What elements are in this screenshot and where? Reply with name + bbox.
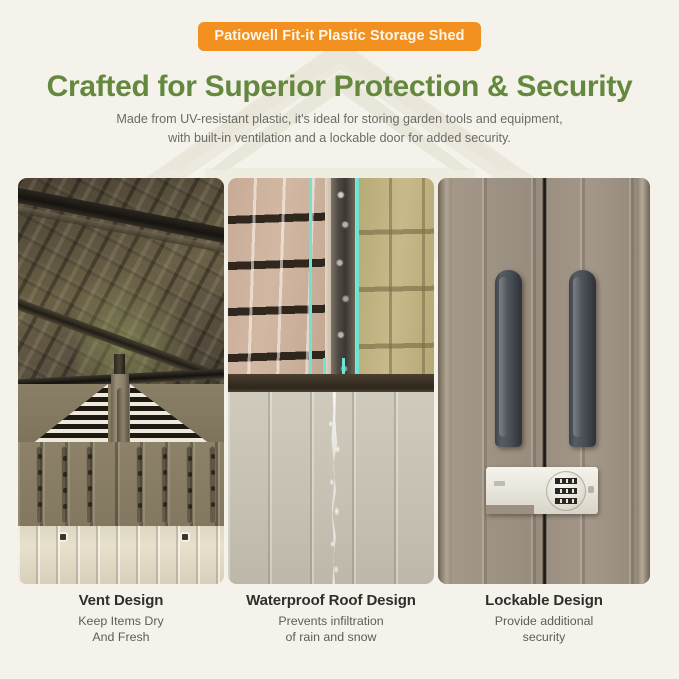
latch-notch [486, 505, 494, 514]
ribbed-wall-panels [18, 442, 224, 528]
shed-wall-below [228, 392, 434, 584]
waterproof-roof-scene [228, 178, 434, 584]
wall-slot-column [61, 446, 68, 524]
door-edge-right [637, 178, 650, 584]
door-handle-right [569, 270, 596, 447]
caption-line-2: security [438, 629, 650, 645]
base-screw [60, 534, 66, 540]
roof-panel-right-texture [359, 178, 434, 390]
roof-interior [18, 178, 224, 406]
feature-panels [18, 178, 662, 584]
subtitle-line-1: Made from UV-resistant plastic, it's ide… [0, 110, 679, 129]
caption-subtitle: Provide additional security [438, 613, 650, 645]
wall-slot-column [209, 446, 216, 524]
wall-slot-column [161, 446, 168, 524]
wall-slot-column [86, 446, 93, 524]
caption-line-2: of rain and snow [228, 629, 434, 645]
louver-slats-left [32, 384, 108, 444]
dial-wheels [555, 478, 577, 504]
product-badge-row: Patiowell Fit-it Plastic Storage Shed [0, 22, 679, 51]
caption-waterproof-roof-design: Waterproof Roof Design Prevents infiltra… [228, 592, 434, 645]
door-edge-left [438, 178, 452, 584]
dial-wheel [555, 498, 577, 504]
caption-line-2: And Fresh [18, 629, 224, 645]
caption-subtitle: Keep Items Dry And Fresh [18, 613, 224, 645]
combination-lock-latch [486, 467, 598, 514]
caption-title: Lockable Design [438, 592, 650, 609]
latch-slot [494, 481, 505, 486]
feature-image-lockable-design [438, 178, 650, 584]
feature-captions: Vent Design Keep Items Dry And Fresh Wat… [18, 592, 662, 645]
combination-dial [546, 471, 586, 511]
vent-louvers-left [32, 384, 108, 444]
vent-louvers-right [130, 384, 210, 444]
base-screw [182, 534, 188, 540]
caption-subtitle: Prevents infiltration of rain and snow [228, 613, 434, 645]
page-title: Crafted for Superior Protection & Securi… [0, 70, 679, 104]
wall-slot-column [136, 446, 143, 524]
door-handle-left [495, 270, 522, 447]
water-droplets [324, 402, 346, 584]
dial-wheel [555, 478, 577, 484]
page-subtitle: Made from UV-resistant plastic, it's ide… [0, 110, 679, 148]
vent-design-scene [18, 178, 224, 584]
louver-slats-right [130, 384, 210, 444]
caption-vent-design: Vent Design Keep Items Dry And Fresh [18, 592, 224, 645]
cream-base-skirt [18, 526, 224, 584]
wall-slot-column [36, 446, 43, 524]
dial-wheel [555, 488, 577, 494]
subtitle-line-2: with built-in ventilation and a lockable… [0, 129, 679, 148]
lockable-door-scene [438, 178, 650, 584]
roof-eave-shadow [228, 374, 434, 394]
caption-lockable-design: Lockable Design Provide additional secur… [438, 592, 650, 645]
product-badge: Patiowell Fit-it Plastic Storage Shed [198, 22, 480, 51]
roof-seam-closeup [228, 178, 434, 390]
feature-image-waterproof-roof-design [228, 178, 434, 584]
caption-line-1: Provide additional [438, 613, 650, 629]
latch-ear [588, 486, 594, 493]
roof-panel-right [359, 178, 434, 390]
base-ribs [18, 526, 224, 584]
caption-line-1: Prevents infiltration [228, 613, 434, 629]
wall-slot-column [186, 446, 193, 524]
feature-image-vent-design [18, 178, 224, 584]
door-center-seam [542, 178, 547, 584]
caption-title: Vent Design [18, 592, 224, 609]
caption-line-1: Keep Items Dry [18, 613, 224, 629]
roof-panel-left [228, 178, 326, 390]
caption-title: Waterproof Roof Design [228, 592, 434, 609]
wall-ribs [18, 442, 224, 528]
roof-panel-left-texture [228, 178, 326, 390]
